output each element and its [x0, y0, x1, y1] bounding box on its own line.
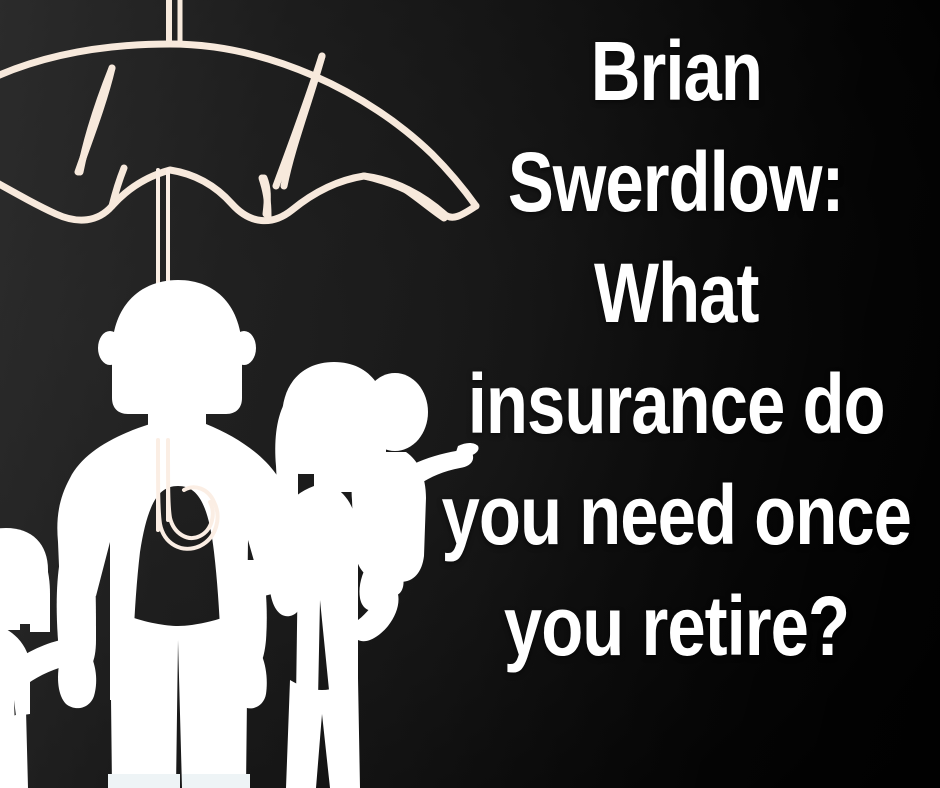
man-shoe-left: [108, 774, 180, 788]
man-legs: [110, 606, 248, 788]
headline-line-6: you retire?: [503, 571, 848, 682]
man-head: [112, 280, 242, 414]
headline-block: Brian Swerdlow: What insurance do you ne…: [437, 0, 915, 690]
child-legs: [0, 710, 28, 788]
headline-line-3: What: [594, 238, 758, 349]
umbrella-rib-center-left: [78, 68, 112, 172]
headline-line-4: insurance do: [468, 349, 885, 460]
child-neck: [0, 612, 20, 630]
umbrella-fold-right: [264, 178, 267, 214]
man-shoe-right: [182, 774, 250, 788]
headline-line-2: Swerdlow:: [508, 127, 844, 238]
man-ear-right: [232, 331, 256, 365]
man-ear-left: [98, 331, 122, 365]
umbrella-canopy-dome: [0, 44, 476, 206]
umbrella-icon: [0, 0, 476, 221]
man-silhouette: [57, 280, 296, 788]
headline-line-1: Brian: [590, 16, 761, 127]
woman-legs: [286, 678, 360, 788]
headline-line-5: you need once: [441, 460, 910, 571]
umbrella-rib-right-inner: [276, 56, 322, 186]
child-hair: [30, 540, 50, 632]
baby-head: [362, 373, 428, 451]
poster-canvas: Brian Swerdlow: What insurance do you ne…: [0, 0, 940, 788]
